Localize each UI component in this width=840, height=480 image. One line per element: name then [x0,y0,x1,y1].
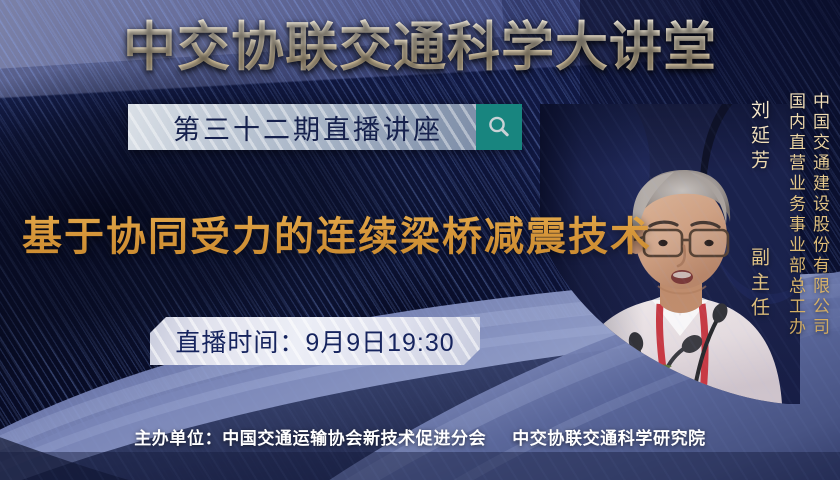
poster-title: 中交协联交通科学大讲堂 [0,18,840,79]
speaker-department: 国内直营业务事业部总工办 [783,92,808,338]
organizer-primary: 中国交通运输协会新技术促进分会 [222,429,486,448]
footer-organizers: 主办单位：中国交通运输协会新技术促进分会中交协联交通科学研究院 [0,424,840,449]
broadcast-time-box: 直播时间：9月9日19:30 [150,317,480,365]
lecture-headline: 基于协同受力的连续梁桥减震技术 [22,204,652,262]
subtitle-text-area: 第三十二期直播讲座 [128,104,476,150]
webinar-poster: 中交协联交通科学大讲堂 第三十二期直播讲座 基于协同受力的连续梁桥减震技术 直播… [0,0,840,480]
search-button[interactable] [476,104,522,150]
subtitle-bar: 第三十二期直播讲座 [128,104,522,150]
speaker-name-title: 刘延芳 副主任 [745,100,772,322]
search-icon [486,114,512,140]
subtitle-label: 第三十二期直播讲座 [173,108,443,147]
broadcast-time-label: 直播时间：9月9日19:30 [175,323,454,359]
organizer-label: 主办单位： [134,429,222,448]
speaker-title: 副主任 [748,247,769,322]
speaker-name: 刘延芳 [748,100,769,175]
organizer-secondary: 中交协联交通科学研究院 [512,429,706,448]
speaker-company: 中国交通建设股份有限公司 [807,92,832,338]
